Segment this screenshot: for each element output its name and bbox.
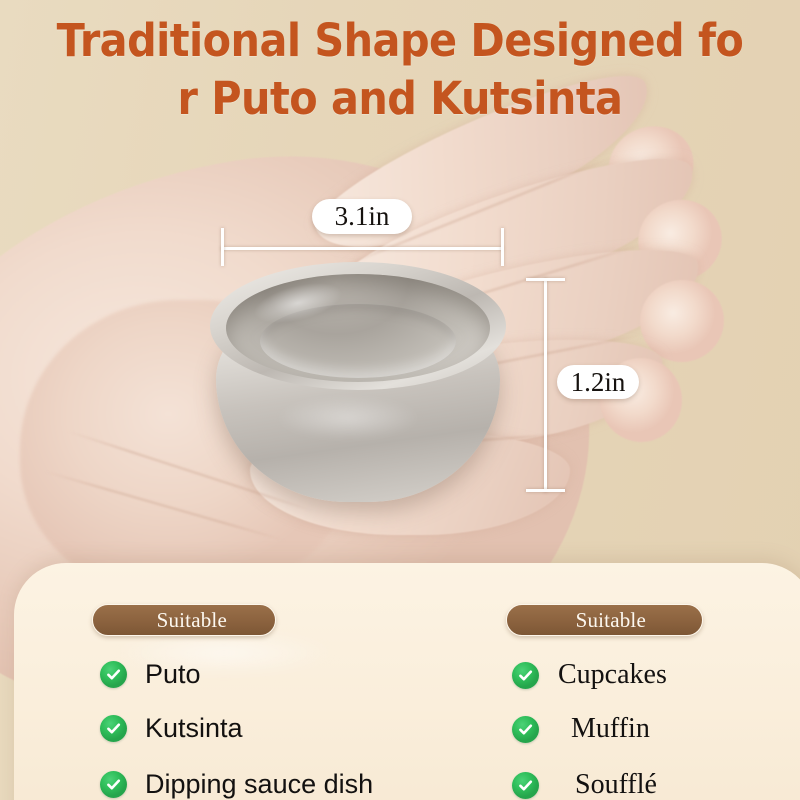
suitable-badge-right: Suitable xyxy=(506,604,703,636)
list-item: Soufflé xyxy=(512,769,657,800)
list-item: Kutsinta xyxy=(100,713,243,744)
list-item: Muffin xyxy=(512,713,650,745)
list-item: Puto xyxy=(100,659,201,690)
width-dimension-cap-right xyxy=(501,228,504,266)
list-item: Dipping sauce dish xyxy=(100,769,373,800)
list-item: Cupcakes xyxy=(512,659,667,691)
height-dimension-label: 1.2in xyxy=(557,365,639,399)
stainless-steel-bowl xyxy=(208,262,508,510)
bowl-sheen xyxy=(248,388,448,448)
suitable-badge-right-label: Suitable xyxy=(576,608,646,633)
width-dimension-label: 3.1in xyxy=(312,199,412,234)
check-circle-icon xyxy=(512,716,539,743)
list-item-label: Muffin xyxy=(571,713,650,745)
suitable-badge-left-label: Suitable xyxy=(157,608,227,633)
list-item-label: Dipping sauce dish xyxy=(145,769,373,800)
check-circle-icon xyxy=(100,771,127,798)
check-circle-icon xyxy=(512,662,539,689)
width-dimension-cap-left xyxy=(221,228,224,266)
height-dimension-cap-bottom xyxy=(526,489,565,492)
suitability-panel: Suitable Puto Kutsinta xyxy=(14,563,800,800)
height-dimension-line xyxy=(544,278,547,492)
page-title: Traditional Shape Designed fo r Puto and… xyxy=(32,12,768,128)
list-item-label: Kutsinta xyxy=(145,713,243,744)
check-circle-icon xyxy=(512,772,539,799)
width-dimension-line xyxy=(221,247,503,250)
suitable-badge-left: Suitable xyxy=(92,604,276,636)
infographic-canvas: Traditional Shape Designed fo r Puto and… xyxy=(0,0,800,800)
list-item-label: Soufflé xyxy=(575,769,657,800)
check-circle-icon xyxy=(100,661,127,688)
height-dimension-cap-top xyxy=(526,278,565,281)
list-item-label: Puto xyxy=(145,659,201,690)
list-item-label: Cupcakes xyxy=(558,659,667,691)
check-circle-icon xyxy=(100,715,127,742)
